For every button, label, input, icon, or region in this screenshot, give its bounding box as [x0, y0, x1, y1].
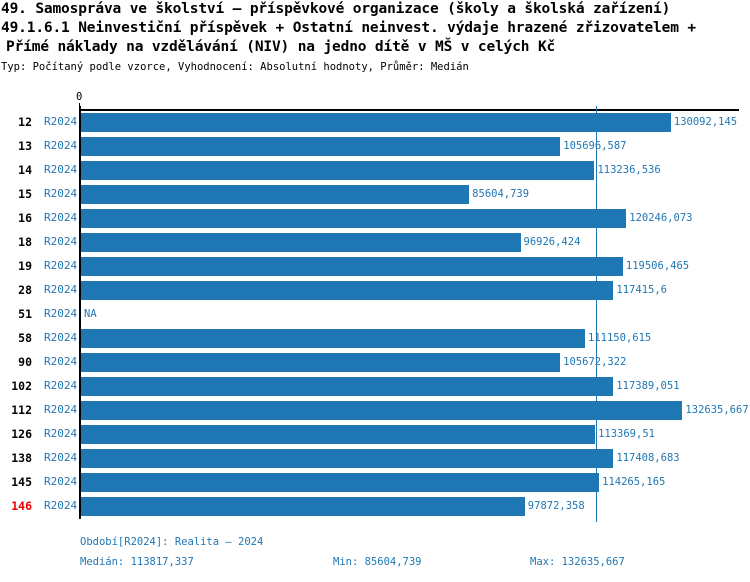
- bar-chart-plot-area: 0 12R2024130092,14513R2024105696,58714R2…: [0, 92, 750, 530]
- row-number-label: 16: [0, 211, 32, 225]
- bar-row[interactable]: 90R2024105672,322: [0, 351, 750, 375]
- value-label: 85604,739: [472, 188, 529, 200]
- row-number-label: 58: [0, 331, 32, 345]
- value-bar[interactable]: [81, 497, 525, 516]
- row-period-label: R2024: [44, 235, 77, 249]
- stat-min-label: Min: 85604,739: [333, 556, 422, 568]
- bar-row[interactable]: 18R202496926,424: [0, 231, 750, 255]
- row-period-label: R2024: [44, 187, 77, 201]
- row-period-label: R2024: [44, 427, 77, 441]
- value-bar[interactable]: [81, 449, 613, 468]
- value-label: 111150,615: [588, 332, 651, 344]
- row-period-label: R2024: [44, 163, 77, 177]
- bar-row[interactable]: 112R2024132635,667: [0, 399, 750, 423]
- row-period-label: R2024: [44, 115, 77, 129]
- x-axis-origin-tick-label: 0: [76, 92, 82, 103]
- value-label: 96926,424: [524, 236, 581, 248]
- row-period-label: R2024: [44, 451, 77, 465]
- value-bar[interactable]: [81, 281, 613, 300]
- row-number-label: 146: [0, 499, 32, 513]
- value-label: 114265,165: [602, 476, 665, 488]
- value-label: 132635,667: [685, 404, 748, 416]
- row-number-label: 145: [0, 475, 32, 489]
- value-label: 117408,683: [616, 452, 679, 464]
- row-period-label: R2024: [44, 139, 77, 153]
- bar-row[interactable]: 126R2024113369,51: [0, 423, 750, 447]
- row-period-label: R2024: [44, 475, 77, 489]
- value-bar[interactable]: [81, 425, 595, 444]
- row-number-label: 18: [0, 235, 32, 249]
- bar-row[interactable]: 145R2024114265,165: [0, 471, 750, 495]
- chart-subtitle: Typ: Počítaný podle vzorce, Vyhodnocení:…: [0, 61, 750, 73]
- value-label: 119506,465: [626, 260, 689, 272]
- stat-max-label: Max: 132635,667: [530, 556, 625, 568]
- bar-row[interactable]: 58R2024111150,615: [0, 327, 750, 351]
- row-period-label: R2024: [44, 259, 77, 273]
- row-number-label: 28: [0, 283, 32, 297]
- value-label: 117389,051: [616, 380, 679, 392]
- value-label: NA: [84, 308, 97, 320]
- row-number-label: 90: [0, 355, 32, 369]
- bar-row[interactable]: 16R2024120246,073: [0, 207, 750, 231]
- page-title-line-1: 49. Samospráva ve školství – příspěvkové…: [0, 0, 750, 19]
- row-number-label: 13: [0, 139, 32, 153]
- value-bar[interactable]: [81, 137, 560, 156]
- value-bar[interactable]: [81, 329, 585, 348]
- row-period-label: R2024: [44, 403, 77, 417]
- legend-period-label: Období[R2024]: Realita – 2024: [80, 536, 263, 548]
- row-number-label: 14: [0, 163, 32, 177]
- value-bar[interactable]: [81, 161, 594, 180]
- row-number-label: 138: [0, 451, 32, 465]
- bar-row[interactable]: 14R2024113236,536: [0, 159, 750, 183]
- value-label: 113369,51: [598, 428, 655, 440]
- value-label: 105696,587: [563, 140, 626, 152]
- row-period-label: R2024: [44, 499, 77, 513]
- value-bar[interactable]: [81, 185, 469, 204]
- row-number-label: 102: [0, 379, 32, 393]
- row-period-label: R2024: [44, 307, 77, 321]
- value-label: 97872,358: [528, 500, 585, 512]
- stat-median-label: Medián: 113817,337: [80, 556, 194, 568]
- value-bar[interactable]: [81, 401, 682, 420]
- row-number-label: 112: [0, 403, 32, 417]
- bar-row[interactable]: 19R2024119506,465: [0, 255, 750, 279]
- page-title-line-2: 49.1.6.1 Neinvestiční příspěvek + Ostatn…: [0, 19, 750, 38]
- bar-row[interactable]: 12R2024130092,145: [0, 111, 750, 135]
- bar-row[interactable]: 102R2024117389,051: [0, 375, 750, 399]
- value-bar[interactable]: [81, 233, 521, 252]
- value-label: 113236,536: [597, 164, 660, 176]
- chart-header: 49. Samospráva ve školství – příspěvkové…: [0, 0, 750, 73]
- bar-row[interactable]: 15R202485604,739: [0, 183, 750, 207]
- value-label: 105672,322: [563, 356, 626, 368]
- footer-statistics: Medián: 113817,337 Min: 85604,739 Max: 1…: [80, 556, 740, 570]
- value-label: 120246,073: [629, 212, 692, 224]
- value-label: 130092,145: [674, 116, 737, 128]
- value-label: 117415,6: [616, 284, 667, 296]
- row-period-label: R2024: [44, 379, 77, 393]
- row-number-label: 51: [0, 307, 32, 321]
- row-number-label: 12: [0, 115, 32, 129]
- row-period-label: R2024: [44, 283, 77, 297]
- bar-row[interactable]: 146R202497872,358: [0, 495, 750, 519]
- bar-row[interactable]: 138R2024117408,683: [0, 447, 750, 471]
- row-period-label: R2024: [44, 331, 77, 345]
- value-bar[interactable]: [81, 377, 613, 396]
- value-bar[interactable]: [81, 257, 623, 276]
- row-number-label: 126: [0, 427, 32, 441]
- page-title-line-3: Přímé náklady na vzdělávání (NIV) na jed…: [0, 38, 750, 57]
- row-number-label: 15: [0, 187, 32, 201]
- value-bar[interactable]: [81, 209, 626, 228]
- row-period-label: R2024: [44, 355, 77, 369]
- row-period-label: R2024: [44, 211, 77, 225]
- bar-row[interactable]: 51R2024NA: [0, 303, 750, 327]
- value-bar[interactable]: [81, 473, 599, 492]
- row-number-label: 19: [0, 259, 32, 273]
- bar-row[interactable]: 13R2024105696,587: [0, 135, 750, 159]
- value-bar[interactable]: [81, 113, 671, 132]
- bar-row[interactable]: 28R2024117415,6: [0, 279, 750, 303]
- value-bar[interactable]: [81, 353, 560, 372]
